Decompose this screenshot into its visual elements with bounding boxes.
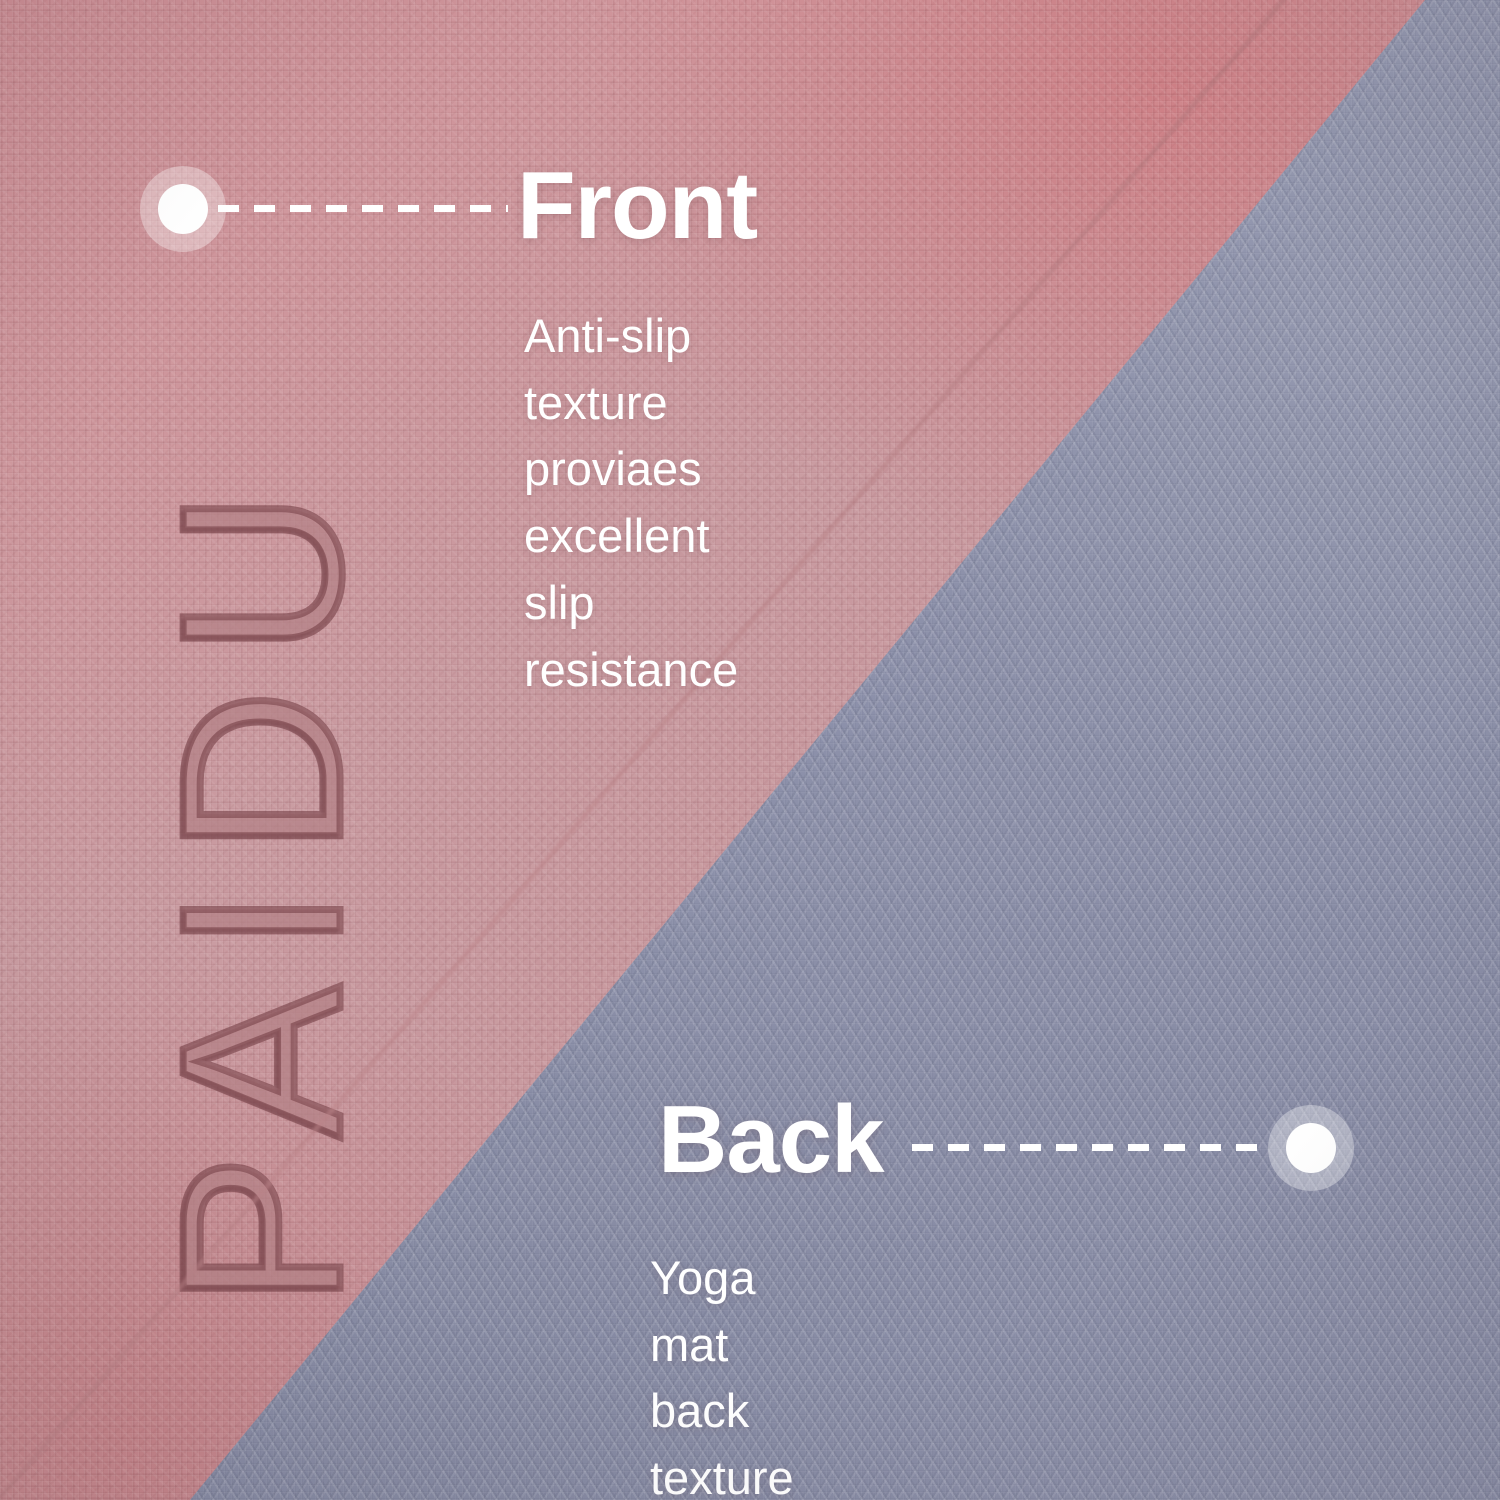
back-leader-line-icon	[912, 1144, 1270, 1151]
front-dot-marker-icon	[140, 166, 226, 252]
front-callout-description: Anti-slip texture proviaes excellent sli…	[524, 303, 738, 703]
back-callout-description: Yoga mat back texture for better grip	[650, 1245, 794, 1500]
front-leader-line-icon	[218, 205, 508, 212]
back-dot-marker-icon	[1268, 1105, 1354, 1191]
product-image-canvas: PAIDU Front Anti-slip texture proviaes e…	[0, 0, 1500, 1500]
front-callout-title: Front	[517, 158, 757, 254]
back-callout-title: Back	[658, 1092, 884, 1188]
